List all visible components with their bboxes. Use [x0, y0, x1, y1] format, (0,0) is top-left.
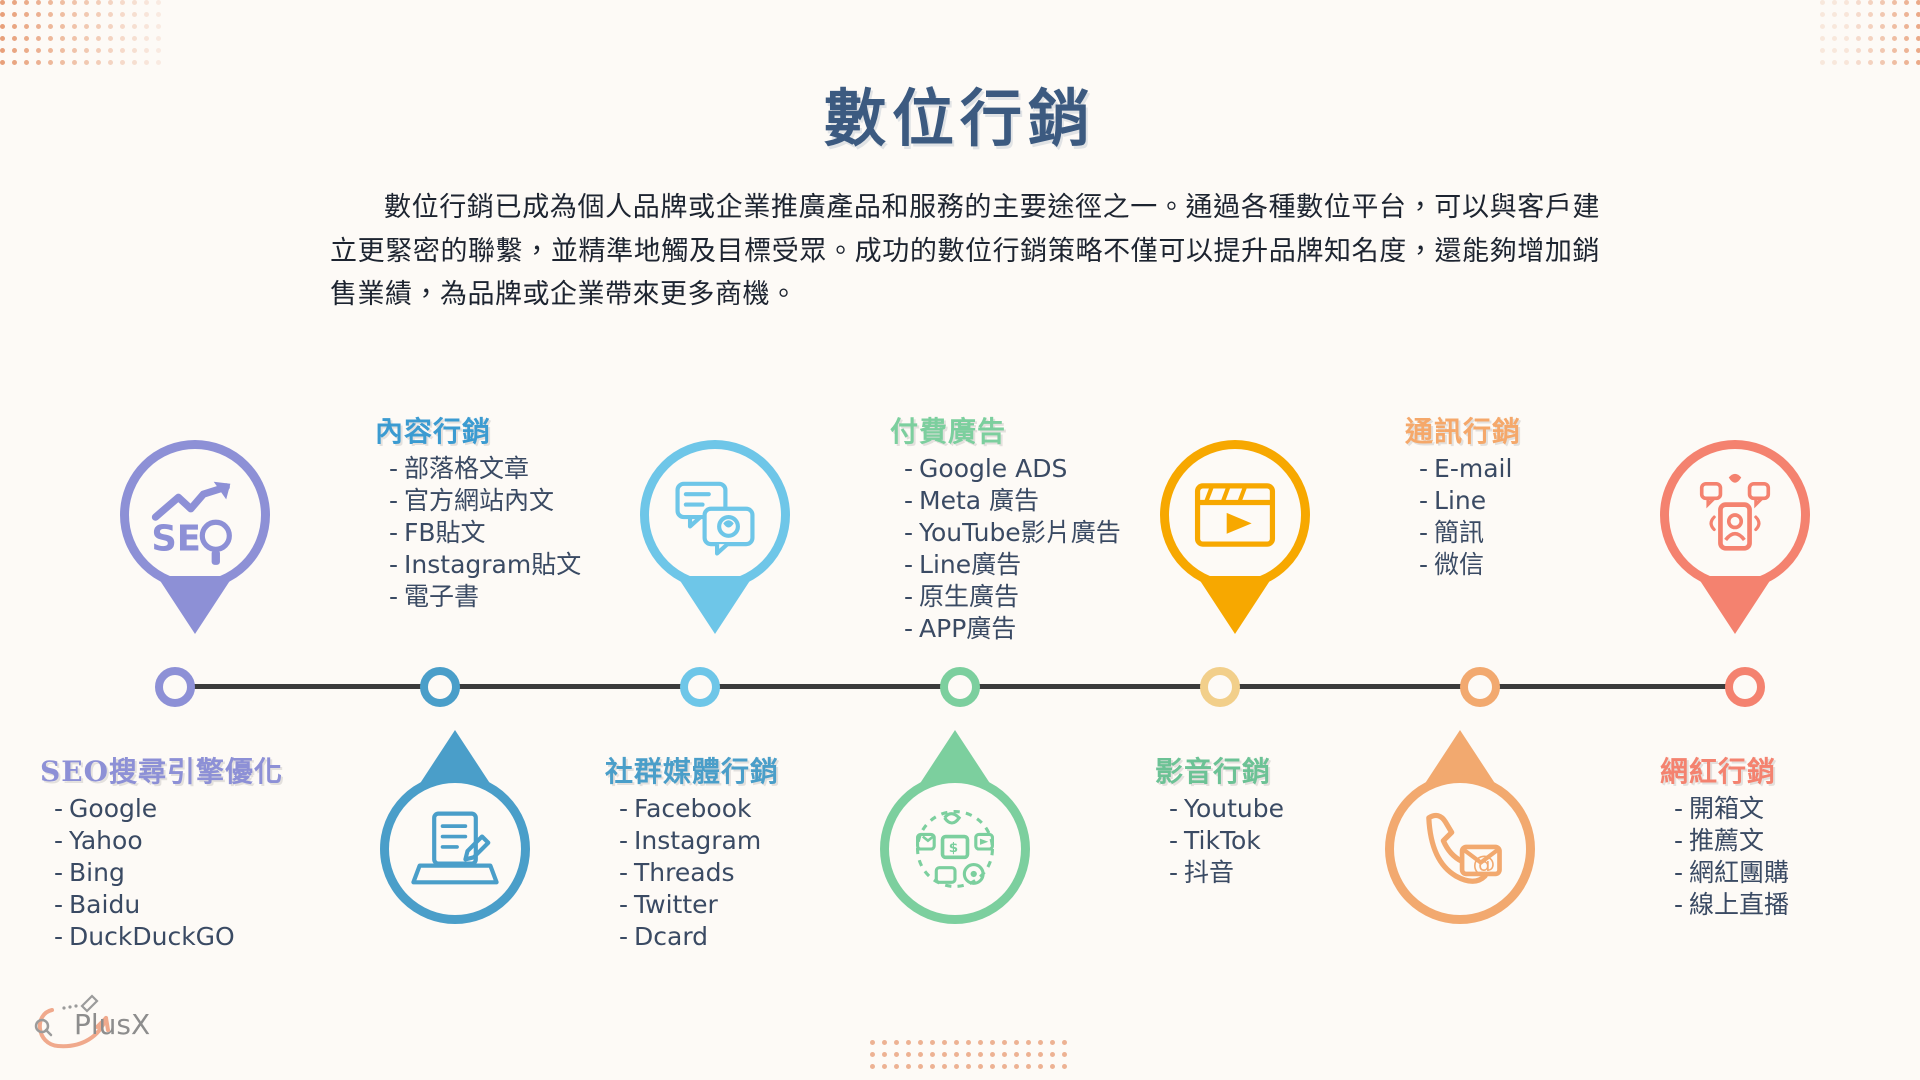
list-bullet-dash: - [1419, 518, 1428, 547]
pin-tail [1197, 576, 1273, 634]
list-item: -Yahoo [54, 826, 283, 855]
list-item: -Threads [619, 858, 779, 887]
list-bullet-dash: - [904, 486, 913, 515]
list-bullet-dash: - [1419, 550, 1428, 579]
timeline-node-6[interactable] [1460, 667, 1500, 707]
list-item: -FB貼文 [389, 518, 581, 547]
list-bullet-dash: - [54, 890, 63, 919]
influencer-phone-icon [1660, 440, 1810, 590]
timeline-node-7[interactable] [1725, 667, 1765, 707]
timeline-node-5[interactable] [1200, 667, 1240, 707]
social-bubbles-icon: $ [880, 774, 1030, 924]
list-bullet-dash: - [54, 858, 63, 887]
section-heading-kol-marketing: 網紅行銷 [1660, 750, 1789, 790]
list-bullet-dash: - [904, 454, 913, 483]
list-bullet-dash: - [389, 550, 398, 579]
list-bullet-dash: - [1169, 858, 1178, 887]
list-bullet-dash: - [619, 890, 628, 919]
section-messaging-marketing: 通訊行銷-E-mail-Line-簡訊-微信 [1405, 410, 1521, 582]
list-item-label: Yahoo [69, 826, 143, 855]
list-bullet-dash: - [54, 826, 63, 855]
list-bullet-dash: - [904, 582, 913, 611]
list-bullet-dash: - [1419, 486, 1428, 515]
list-item: -微信 [1419, 550, 1521, 579]
list-item-label: APP廣告 [919, 614, 1016, 643]
pin-content[interactable] [640, 440, 790, 634]
list-bullet-dash: - [904, 518, 913, 547]
list-item-label: Youtube [1184, 794, 1284, 823]
list-item-label: E-mail [1434, 454, 1512, 483]
plusx-logo: PlusX [22, 988, 172, 1058]
section-paid-ads: 付費廣告-Google ADS-Meta 廣告-YouTube影片廣告-Line… [890, 410, 1121, 646]
list-bullet-dash: - [389, 454, 398, 483]
list-item: -DuckDuckGO [54, 922, 283, 951]
pin-social[interactable] [380, 730, 530, 924]
list-bullet-dash: - [619, 922, 628, 951]
page-title: 數位行銷 [0, 68, 1920, 158]
list-item-label: 電子書 [404, 582, 479, 611]
list-item: -Twitter [619, 890, 779, 919]
list-item: -線上直播 [1674, 890, 1789, 919]
intro-paragraph: 數位行銷已成為個人品牌或企業推廣產品和服務的主要途徑之一。通過各種數位平台，可以… [330, 186, 1600, 317]
list-bullet-dash: - [619, 794, 628, 823]
section-heading-video-marketing: 影音行銷 [1155, 750, 1284, 790]
pin-tail [677, 576, 753, 634]
pin-messaging[interactable]: @ [1385, 730, 1535, 924]
pin-kol[interactable] [1660, 440, 1810, 634]
logo-text: PlusX [74, 1008, 150, 1041]
list-bullet-dash: - [619, 826, 628, 855]
section-content-marketing: 內容行銷-部落格文章-官方網站內文-FB貼文-Instagram貼文-電子書 [375, 410, 581, 614]
list-item-label: 簡訊 [1434, 518, 1484, 547]
list-item-label: 官方網站內文 [404, 486, 554, 515]
svg-text:SE: SE [151, 518, 201, 559]
list-item-label: 微信 [1434, 550, 1484, 579]
pin-tail [157, 576, 233, 634]
list-item-label: 原生廣告 [919, 582, 1019, 611]
section-list-video-marketing: -Youtube-TikTok-抖音 [1155, 794, 1284, 887]
list-item: -Google [54, 794, 283, 823]
list-item: -Google ADS [904, 454, 1121, 483]
timeline-node-3[interactable] [680, 667, 720, 707]
section-list-social-media-marketing: -Facebook-Instagram-Threads-Twitter-Dcar… [605, 794, 779, 951]
section-heading-messaging-marketing: 通訊行銷 [1405, 410, 1521, 450]
list-item-label: TikTok [1184, 826, 1261, 855]
pin-video[interactable] [1160, 440, 1310, 634]
section-list-seo: -Google-Yahoo-Bing-Baidu-DuckDuckGO [40, 794, 283, 951]
list-item-label: DuckDuckGO [69, 922, 235, 951]
list-bullet-dash: - [54, 794, 63, 823]
pin-tail [1697, 576, 1773, 634]
list-item-label: 抖音 [1184, 858, 1234, 887]
list-item-label: 網紅團購 [1689, 858, 1789, 887]
list-item: -原生廣告 [904, 582, 1121, 611]
list-item: -Line [1419, 486, 1521, 515]
section-heading-social-media-marketing: 社群媒體行銷 [605, 750, 779, 790]
section-kol-marketing: 網紅行銷-開箱文-推薦文-網紅團購-線上直播 [1660, 750, 1789, 922]
list-item: -開箱文 [1674, 794, 1789, 823]
list-item-label: Line廣告 [919, 550, 1021, 579]
list-item: -TikTok [1169, 826, 1284, 855]
list-bullet-dash: - [1169, 794, 1178, 823]
timeline-node-4[interactable] [940, 667, 980, 707]
list-item-label: Dcard [634, 922, 708, 951]
pin-paid[interactable]: $ [880, 730, 1030, 924]
list-bullet-dash: - [389, 486, 398, 515]
list-item: -推薦文 [1674, 826, 1789, 855]
list-item: -Instagram貼文 [389, 550, 581, 579]
svg-text:$: $ [949, 840, 958, 856]
list-bullet-dash: - [1674, 890, 1683, 919]
list-item-label: 部落格文章 [404, 454, 529, 483]
section-list-content-marketing: -部落格文章-官方網站內文-FB貼文-Instagram貼文-電子書 [375, 454, 581, 611]
list-item-label: FB貼文 [404, 518, 486, 547]
list-bullet-dash: - [1419, 454, 1428, 483]
list-bullet-dash: - [1674, 826, 1683, 855]
list-item: -網紅團購 [1674, 858, 1789, 887]
seo-growth-chart-icon: SE [120, 440, 270, 590]
section-social-media-marketing: 社群媒體行銷-Facebook-Instagram-Threads-Twitte… [605, 750, 779, 954]
list-item: -Bing [54, 858, 283, 887]
list-item: -電子書 [389, 582, 581, 611]
list-item: -APP廣告 [904, 614, 1121, 643]
list-item-label: Instagram貼文 [404, 550, 581, 579]
list-item-label: YouTube影片廣告 [919, 518, 1121, 547]
list-item-label: Line [1434, 486, 1486, 515]
list-item: -Meta 廣告 [904, 486, 1121, 515]
chat-bubbles-icon [640, 440, 790, 590]
section-heading-paid-ads: 付費廣告 [890, 410, 1121, 450]
section-list-messaging-marketing: -E-mail-Line-簡訊-微信 [1405, 454, 1521, 579]
list-item-label: 推薦文 [1689, 826, 1764, 855]
list-item-label: 線上直播 [1689, 890, 1789, 919]
list-item-label: 開箱文 [1689, 794, 1764, 823]
list-bullet-dash: - [389, 518, 398, 547]
list-item: -E-mail [1419, 454, 1521, 483]
list-bullet-dash: - [1674, 794, 1683, 823]
video-player-icon [1160, 440, 1310, 590]
list-item: -抖音 [1169, 858, 1284, 887]
section-heading-content-marketing: 內容行銷 [375, 410, 581, 450]
list-item-label: Instagram [634, 826, 761, 855]
list-item: -YouTube影片廣告 [904, 518, 1121, 547]
list-bullet-dash: - [54, 922, 63, 951]
list-item: -Dcard [619, 922, 779, 951]
list-item-label: Meta 廣告 [919, 486, 1039, 515]
list-item: -部落格文章 [389, 454, 581, 483]
list-item-label: Threads [634, 858, 734, 887]
list-item-label: Bing [69, 858, 125, 887]
timeline-node-1[interactable] [155, 667, 195, 707]
section-list-paid-ads: -Google ADS-Meta 廣告-YouTube影片廣告-Line廣告-原… [890, 454, 1121, 643]
timeline-node-2[interactable] [420, 667, 460, 707]
section-seo: SEO搜尋引擎優化-Google-Yahoo-Bing-Baidu-DuckDu… [40, 750, 283, 954]
list-bullet-dash: - [1674, 858, 1683, 887]
infographic-page: 數位行銷 數位行銷已成為個人品牌或企業推廣產品和服務的主要途徑之一。通過各種數位… [0, 0, 1920, 1080]
list-item: -官方網站內文 [389, 486, 581, 515]
list-item: -Line廣告 [904, 550, 1121, 579]
list-item: -Baidu [54, 890, 283, 919]
list-item-label: Google ADS [919, 454, 1067, 483]
pin-seo[interactable]: SE [120, 440, 270, 634]
section-list-kol-marketing: -開箱文-推薦文-網紅團購-線上直播 [1660, 794, 1789, 919]
laptop-writing-icon [380, 774, 530, 924]
list-item: -簡訊 [1419, 518, 1521, 547]
list-item: -Instagram [619, 826, 779, 855]
list-item: -Youtube [1169, 794, 1284, 823]
svg-text:@: @ [1472, 852, 1495, 878]
section-video-marketing: 影音行銷-Youtube-TikTok-抖音 [1155, 750, 1284, 890]
list-bullet-dash: - [904, 614, 913, 643]
list-bullet-dash: - [1169, 826, 1178, 855]
section-heading-seo: SEO搜尋引擎優化 [40, 750, 283, 790]
list-bullet-dash: - [619, 858, 628, 887]
list-item-label: Twitter [634, 890, 718, 919]
list-item-label: Google [69, 794, 157, 823]
list-item: -Facebook [619, 794, 779, 823]
list-bullet-dash: - [389, 582, 398, 611]
list-bullet-dash: - [904, 550, 913, 579]
list-item-label: Facebook [634, 794, 751, 823]
list-item-label: Baidu [69, 890, 140, 919]
phone-envelope-icon: @ [1385, 774, 1535, 924]
